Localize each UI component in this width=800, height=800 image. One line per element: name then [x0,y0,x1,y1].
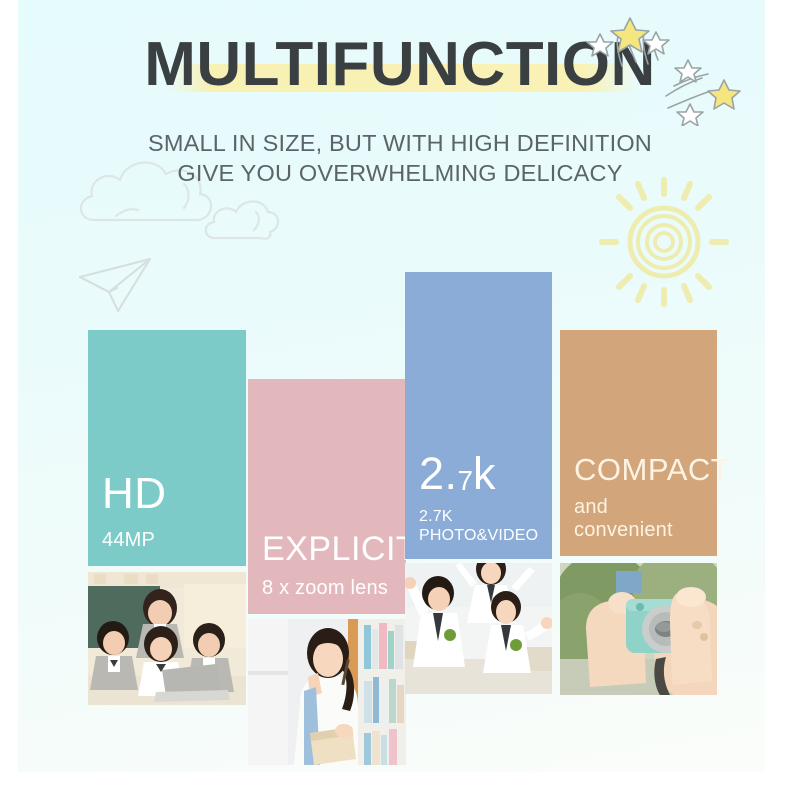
feature-panel-explicit: EXPLICIT 8 x zoom lens [248,379,406,614]
poster-subtitle: SMALL IN SIZE, BUT WITH HIGH DEFINITION … [0,128,800,188]
students-celebrating-photo [405,563,552,694]
feature-caption-resolution: 2.7K PHOTO&VIDEO [419,508,538,545]
poster-title-wrap: MULTIFUNCTION [0,34,800,96]
feature-caption-hd: 44MP [102,529,232,552]
resolution-value-tail: k [473,448,496,499]
feature-caption-compact: and convenient [574,496,703,542]
resolution-value-main: 2. [419,448,458,499]
feature-caption-explicit: 8 x zoom lens [262,577,392,600]
page-title: MULTIFUNCTION [0,34,800,96]
product-feature-poster: MULTIFUNCTION SMALL IN SIZE, BUT WITH HI… [0,0,800,800]
subtitle-line-2: GIVE YOU OVERWHELMING DELICACY [0,158,800,188]
feature-panel-compact: COMPACT and convenient [560,330,717,556]
feature-headline-compact: COMPACT [574,454,703,486]
woman-in-library-photo [248,619,406,765]
students-with-laptop-photo [88,572,246,705]
feature-panel-hd: HD 44MP [88,330,246,566]
subtitle-line-1: SMALL IN SIZE, BUT WITH HIGH DEFINITION [0,128,800,158]
hands-holding-camera-photo [560,563,717,695]
feature-headline-hd: HD [102,471,232,517]
feature-headline-resolution: 2.7k [419,451,538,498]
feature-headline-explicit: EXPLICIT [262,532,392,567]
feature-panel-resolution: 2.7k 2.7K PHOTO&VIDEO [405,272,552,559]
resolution-value-sub: 7 [458,465,474,496]
